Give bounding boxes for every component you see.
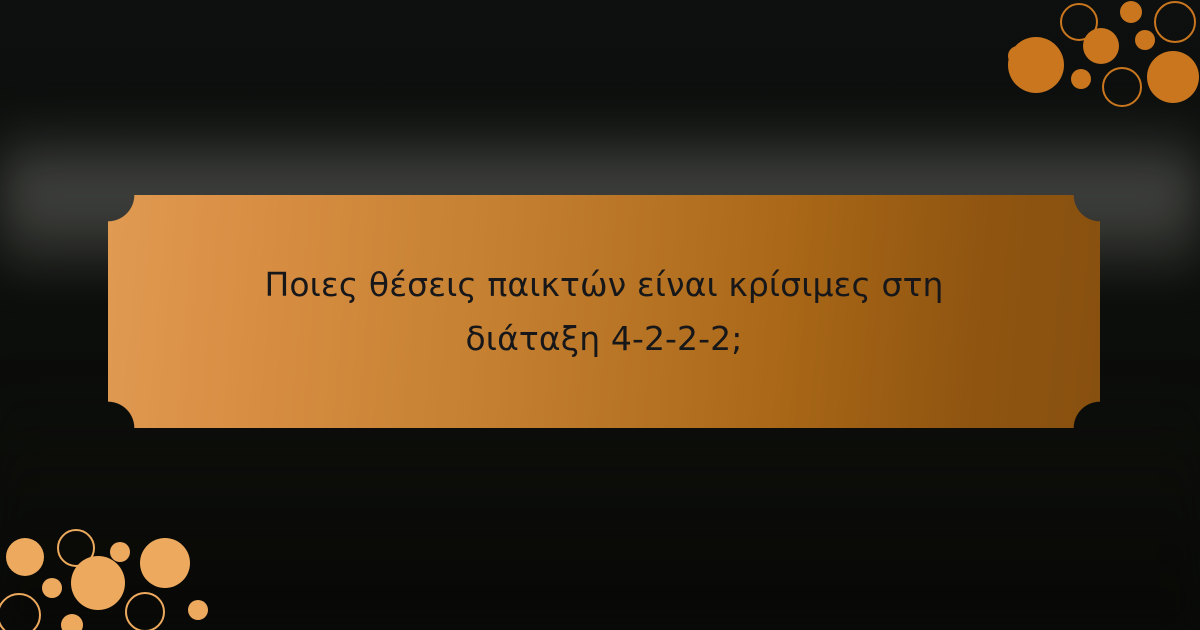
decorative-circle xyxy=(0,593,41,630)
decorative-circles-bottom-left xyxy=(0,510,240,630)
decorative-circle xyxy=(140,538,190,588)
decorative-circle xyxy=(1083,28,1119,64)
decorative-circle xyxy=(71,556,125,610)
question-text: Ποιες θέσεις παικτών είναι κρίσιμες στη … xyxy=(244,258,964,365)
social-card-canvas: Ποιες θέσεις παικτών είναι κρίσιμες στη … xyxy=(0,0,1200,630)
decorative-circle xyxy=(6,538,44,576)
decorative-circle xyxy=(1071,69,1091,89)
decorative-circles-top-right xyxy=(970,0,1200,125)
decorative-circle xyxy=(1102,67,1142,107)
question-card: Ποιες θέσεις παικτών είναι κρίσιμες στη … xyxy=(108,195,1100,428)
decorative-circle xyxy=(1147,51,1199,103)
decorative-circle xyxy=(61,614,83,630)
decorative-circle xyxy=(125,592,165,630)
decorative-circle xyxy=(188,600,208,620)
decorative-circle xyxy=(42,578,62,598)
decorative-circle xyxy=(1008,37,1064,93)
decorative-circle xyxy=(1154,1,1196,43)
decorative-circle xyxy=(110,542,130,562)
decorative-circle xyxy=(1135,30,1155,50)
decorative-circle xyxy=(1120,1,1142,23)
